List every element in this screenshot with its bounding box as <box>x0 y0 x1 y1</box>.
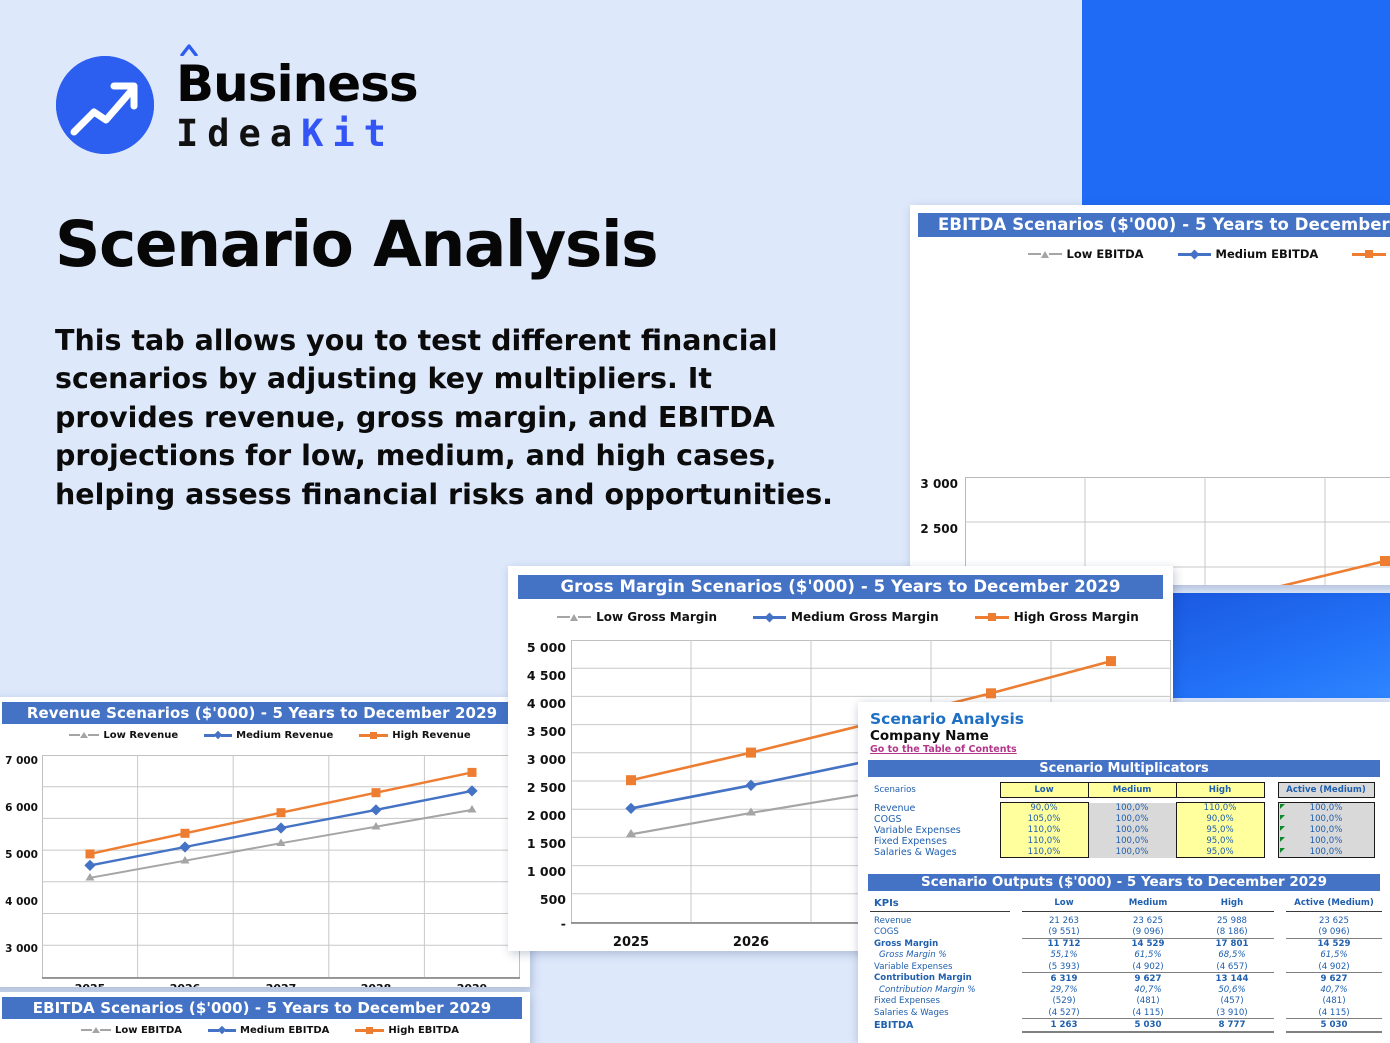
table-row: Fixed Expenses 110,0% 100,0% 95,0% 100,0… <box>870 836 1374 847</box>
kpi-label-revenue: Revenue <box>870 915 1010 927</box>
kpi-gross-margin-high: 17 801 <box>1190 938 1274 950</box>
scenario-analysis-sheet: Scenario Analysis Company Name Go to the… <box>858 702 1390 1043</box>
cell-fixed-expenses-low[interactable]: 110,0% <box>1000 836 1088 847</box>
kpi-fixed-expenses-medium: (481) <box>1106 996 1190 1008</box>
kpi-label-gross-margin-pct: Gross Margin % <box>870 950 1010 962</box>
ytick-500: 500 <box>508 892 566 907</box>
row-label-salaries-wages: Salaries & Wages <box>870 847 1000 858</box>
kpi-label-gross-margin: Gross Margin <box>870 938 1010 950</box>
xtick-2025: 2025 <box>48 982 132 987</box>
cell-variable-expenses-low[interactable]: 110,0% <box>1000 825 1088 836</box>
decorative-blue-block-top-right <box>1082 0 1390 208</box>
brand-circumflex-icon <box>180 44 196 55</box>
brand-logo: Business IdeaKit <box>56 56 418 154</box>
cell-revenue-active: 100,0% <box>1278 803 1374 814</box>
square-marker-icon <box>1365 250 1373 258</box>
legend-item-medium-ebitda: Medium EBITDA <box>1178 247 1319 261</box>
table-scenario-multiplicators: Scenarios Low Medium High Active (Medium… <box>870 782 1375 858</box>
xtick-2025: 2025 <box>586 935 676 950</box>
xtick-2026: 2026 <box>706 935 796 950</box>
ytick-6000: 6 000 <box>0 802 38 814</box>
cell-fixed-expenses-high[interactable]: 95,0% <box>1176 836 1264 847</box>
kpi-gross-margin-pct-high: 68,5% <box>1190 950 1274 962</box>
row-label-cogs: COGS <box>870 814 1000 825</box>
cell-fixed-expenses-active: 100,0% <box>1278 836 1374 847</box>
kpi-revenue-high: 25 988 <box>1190 915 1274 927</box>
kpi-salaries-wages-medium: (4 115) <box>1106 1007 1190 1019</box>
kpi-fixed-expenses-high: (457) <box>1190 996 1274 1008</box>
kpi-contribution-margin-high: 13 144 <box>1190 973 1274 985</box>
kpi-gross-margin-pct-active: 61,5% <box>1286 950 1382 962</box>
ytick-4000: 4 000 <box>0 896 38 908</box>
xtick-2027: 2027 <box>239 982 323 987</box>
sheet-company-name: Company Name <box>870 728 989 744</box>
legend-item-high-ebitda: High EBITDA <box>1352 247 1390 261</box>
kpi-label-variable-expenses: Variable Expenses <box>870 961 1010 973</box>
triangle-marker-icon <box>1041 251 1049 258</box>
table-row: EBITDA 1 263 5 030 8 777 5 030 <box>870 1019 1382 1032</box>
ytick-7000: 7 000 <box>0 755 38 767</box>
kpi-contribution-margin-active: 9 627 <box>1286 973 1382 985</box>
brand-name-secondary: IdeaKit <box>176 115 418 152</box>
cell-variable-expenses-medium[interactable]: 100,0% <box>1088 825 1176 836</box>
ytick-zero: - <box>508 916 566 931</box>
kpi-variable-expenses-low: (5 393) <box>1022 961 1106 973</box>
table-row: COGS 105,0% 100,0% 90,0% 100,0% <box>870 814 1374 825</box>
chart-legend-gross-margin: Low Gross Margin Medium Gross Margin Hig… <box>598 608 1098 626</box>
row-label-variable-expenses: Variable Expenses <box>870 825 1000 836</box>
kpi-gross-margin-medium: 14 529 <box>1106 938 1190 950</box>
column-header-high[interactable]: High <box>1176 783 1264 798</box>
table-row: Salaries & Wages (4 527) (4 115) (3 910)… <box>870 1007 1382 1019</box>
legend-item-high-ebitda-bottom: High EBITDA <box>355 1025 459 1036</box>
cell-revenue-low[interactable]: 90,0% <box>1000 803 1088 814</box>
table-header-row: KPIs Low Medium High Active (Medium) <box>870 896 1382 911</box>
table-row: Variable Expenses 110,0% 100,0% 95,0% 10… <box>870 825 1374 836</box>
multiplicators-row-header: Scenarios <box>870 783 1000 798</box>
kpi-cogs-medium: (9 096) <box>1106 927 1190 939</box>
legend-item-medium-ebitda-bottom: Medium EBITDA <box>208 1025 329 1036</box>
triangle-marker-icon <box>80 732 88 738</box>
xtick-2028: 2028 <box>334 982 418 987</box>
page-title: Scenario Analysis <box>55 208 657 281</box>
chart-legend-ebitda-top: Low EBITDA Medium EBITDA High EBITDA <box>1040 245 1390 263</box>
legend-item-low-ebitda-bottom: Low EBITDA <box>81 1025 182 1036</box>
trending-up-arrow-icon <box>56 56 154 154</box>
kpi-gross-margin-pct-low: 55,1% <box>1022 950 1106 962</box>
kpi-revenue-low: 21 263 <box>1022 915 1106 927</box>
kpi-ebitda-high: 8 777 <box>1190 1019 1274 1032</box>
kpi-variable-expenses-active: (4 902) <box>1286 961 1382 973</box>
cell-salaries-wages-low[interactable]: 110,0% <box>1000 847 1088 858</box>
table-row: Revenue 90,0% 100,0% 110,0% 100,0% <box>870 803 1374 814</box>
ytick-3000: 3 000 <box>0 943 38 955</box>
ytick-4000: 4 000 <box>508 696 566 711</box>
band-scenario-outputs: Scenario Outputs ($'000) - 5 Years to De… <box>868 874 1380 891</box>
kpi-fixed-expenses-low: (529) <box>1022 996 1106 1008</box>
legend-item-low-revenue: Low Revenue <box>69 730 178 741</box>
legend-item-medium-revenue: Medium Revenue <box>204 730 333 741</box>
outputs-row-header: KPIs <box>870 896 1010 911</box>
legend-item-high-revenue: High Revenue <box>359 730 470 741</box>
kpi-label-contribution-margin: Contribution Margin <box>870 973 1010 985</box>
ytick-4500: 4 500 <box>508 668 566 683</box>
kpi-cogs-active: (9 096) <box>1286 927 1382 939</box>
kpi-ebitda-medium: 5 030 <box>1106 1019 1190 1032</box>
cell-salaries-wages-active: 100,0% <box>1278 847 1374 858</box>
chart-title-gross-margin: Gross Margin Scenarios ($'000) - 5 Years… <box>518 575 1163 599</box>
ytick-5000: 5 000 <box>508 640 566 655</box>
kpi-cogs-high: (8 186) <box>1190 927 1274 939</box>
table-row: Fixed Expenses (529) (481) (457) (481) <box>870 996 1382 1008</box>
ytick-2500: 2 500 <box>508 780 566 795</box>
kpi-revenue-medium: 23 625 <box>1106 915 1190 927</box>
outputs-column-header-medium: Medium <box>1106 896 1190 911</box>
kpi-gross-margin-pct-medium: 61,5% <box>1106 950 1190 962</box>
column-header-active[interactable]: Active (Medium) <box>1278 783 1374 798</box>
kpi-contribution-margin-low: 6 319 <box>1022 973 1106 985</box>
ytick-1000: 1 000 <box>508 864 566 879</box>
outputs-column-header-high: High <box>1190 896 1274 911</box>
triangle-marker-icon <box>570 614 578 621</box>
chart-card-revenue: Revenue Scenarios ($'000) - 5 Years to D… <box>0 697 530 987</box>
kpi-label-fixed-expenses: Fixed Expenses <box>870 996 1010 1008</box>
ytick-3000: 3 000 <box>910 477 958 491</box>
kpi-contribution-margin-pct-active: 40,7% <box>1286 984 1382 996</box>
cell-cogs-active: 100,0% <box>1278 814 1374 825</box>
kpi-salaries-wages-active: (4 115) <box>1286 1007 1382 1019</box>
brand-name-primary: Business <box>176 59 418 109</box>
cell-cogs-low[interactable]: 105,0% <box>1000 814 1088 825</box>
table-row: Gross Margin % 55,1% 61,5% 68,5% 61,5% <box>870 950 1382 962</box>
chart-title-ebitda-bottom: EBITDA Scenarios ($'000) - 5 Years to De… <box>2 997 522 1019</box>
column-header-low[interactable]: Low <box>1000 783 1088 798</box>
cell-fixed-expenses-medium[interactable]: 100,0% <box>1088 836 1176 847</box>
triangle-marker-icon <box>92 1027 100 1033</box>
kpi-contribution-margin-pct-high: 50,6% <box>1190 984 1274 996</box>
chart-card-ebitda-bottom: EBITDA Scenarios ($'000) - 5 Years to De… <box>0 992 530 1043</box>
square-marker-icon <box>366 1027 373 1034</box>
kpi-revenue-active: 23 625 <box>1286 915 1382 927</box>
table-of-contents-link[interactable]: Go to the Table of Contents <box>870 744 1017 755</box>
kpi-label-ebitda: EBITDA <box>870 1019 1010 1032</box>
chart-legend-ebitda-bottom: Low EBITDA Medium EBITDA High EBITDA <box>100 1022 440 1038</box>
square-marker-icon <box>988 613 996 621</box>
ytick-2000: 2 000 <box>508 808 566 823</box>
kpi-variable-expenses-medium: (4 902) <box>1106 961 1190 973</box>
legend-item-high-gross-margin: High Gross Margin <box>975 610 1139 624</box>
cell-cogs-high[interactable]: 90,0% <box>1176 814 1264 825</box>
row-label-fixed-expenses: Fixed Expenses <box>870 836 1000 847</box>
decorative-blue-block-right <box>1170 593 1390 698</box>
table-row: COGS (9 551) (9 096) (8 186) (9 096) <box>870 927 1382 939</box>
kpi-cogs-low: (9 551) <box>1022 927 1106 939</box>
cell-revenue-medium[interactable]: 100,0% <box>1088 803 1176 814</box>
outputs-column-header-low: Low <box>1022 896 1106 911</box>
sheet-heading: Scenario Analysis <box>870 710 1024 728</box>
kpi-ebitda-low: 1 263 <box>1022 1019 1106 1032</box>
diamond-marker-icon <box>1189 249 1199 259</box>
cell-salaries-wages-high[interactable]: 95,0% <box>1176 847 1264 858</box>
table-row: Contribution Margin % 29,7% 40,7% 50,6% … <box>870 984 1382 996</box>
xtick-2026: 2026 <box>143 982 227 987</box>
kpi-salaries-wages-high: (3 910) <box>1190 1007 1274 1019</box>
kpi-gross-margin-low: 11 712 <box>1022 938 1106 950</box>
chart-plot-revenue <box>42 755 520 987</box>
kpi-contribution-margin-pct-low: 29,7% <box>1022 984 1106 996</box>
band-scenario-multiplicators: Scenario Multiplicators <box>868 760 1380 777</box>
cell-cogs-medium[interactable]: 100,0% <box>1088 814 1176 825</box>
chart-card-ebitda-top: EBITDA Scenarios ($'000) - 5 Years to De… <box>910 205 1390 585</box>
brand-word-kit: Kit <box>301 112 395 155</box>
kpi-label-contribution-margin-pct: Contribution Margin % <box>870 984 1010 996</box>
cell-variable-expenses-high[interactable]: 95,0% <box>1176 825 1264 836</box>
kpi-contribution-margin-pct-medium: 40,7% <box>1106 984 1190 996</box>
ytick-1500: 1 500 <box>508 836 566 851</box>
ytick-2500: 2 500 <box>910 522 958 536</box>
ytick-5000: 5 000 <box>0 849 38 861</box>
table-row: Variable Expenses (5 393) (4 902) (4 657… <box>870 961 1382 973</box>
square-marker-icon <box>370 732 377 739</box>
kpi-variable-expenses-high: (4 657) <box>1190 961 1274 973</box>
xtick-2029: 2029 <box>430 982 514 987</box>
table-header-row: Scenarios Low Medium High Active (Medium… <box>870 783 1374 798</box>
ytick-3000: 3 000 <box>508 752 566 767</box>
table-row: Revenue 21 263 23 625 25 988 23 625 <box>870 915 1382 927</box>
chart-title-ebitda-top: EBITDA Scenarios ($'000) - 5 Years to De… <box>918 213 1390 237</box>
outputs-column-header-active: Active (Medium) <box>1286 896 1382 911</box>
chart-legend-revenue: Low Revenue Medium Revenue High Revenue <box>90 727 450 743</box>
legend-item-low-ebitda: Low EBITDA <box>1028 247 1144 261</box>
diamond-marker-icon <box>765 612 775 622</box>
brand-word-idea: Idea <box>176 112 301 155</box>
cell-salaries-wages-medium[interactable]: 100,0% <box>1088 847 1176 858</box>
kpi-ebitda-active: 5 030 <box>1286 1019 1382 1032</box>
legend-item-low-gross-margin: Low Gross Margin <box>557 610 717 624</box>
table-row: Salaries & Wages 110,0% 100,0% 95,0% 100… <box>870 847 1374 858</box>
ytick-3500: 3 500 <box>508 724 566 739</box>
diamond-marker-icon <box>214 731 222 739</box>
kpi-gross-margin-active: 14 529 <box>1286 938 1382 950</box>
kpi-contribution-margin-medium: 9 627 <box>1106 973 1190 985</box>
column-header-medium[interactable]: Medium <box>1088 783 1176 798</box>
chart-title-revenue: Revenue Scenarios ($'000) - 5 Years to D… <box>2 702 522 724</box>
kpi-label-salaries-wages: Salaries & Wages <box>870 1007 1010 1019</box>
table-scenario-outputs: KPIs Low Medium High Active (Medium) Rev… <box>870 896 1382 1033</box>
kpi-salaries-wages-low: (4 527) <box>1022 1007 1106 1019</box>
kpi-fixed-expenses-active: (481) <box>1286 996 1382 1008</box>
cell-revenue-high[interactable]: 110,0% <box>1176 803 1264 814</box>
diamond-marker-icon <box>218 1026 226 1034</box>
table-row: Gross Margin 11 712 14 529 17 801 14 529 <box>870 938 1382 950</box>
kpi-label-cogs: COGS <box>870 927 1010 939</box>
row-label-revenue: Revenue <box>870 803 1000 814</box>
legend-item-medium-gross-margin: Medium Gross Margin <box>753 610 939 624</box>
cell-variable-expenses-active: 100,0% <box>1278 825 1374 836</box>
page-description: This tab allows you to test different fi… <box>55 322 855 514</box>
table-row: Contribution Margin 6 319 9 627 13 144 9… <box>870 973 1382 985</box>
